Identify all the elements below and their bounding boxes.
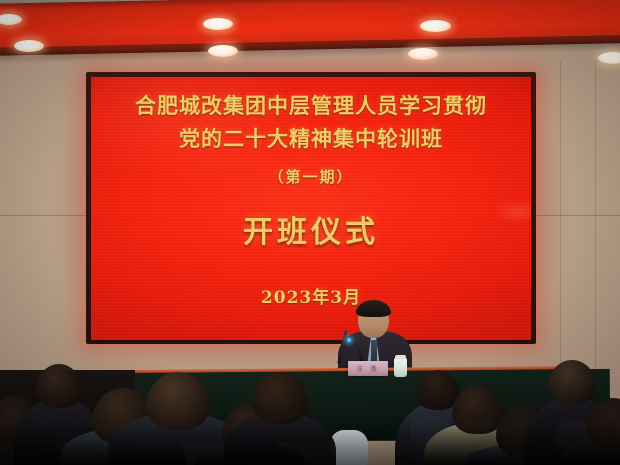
nameplate-text: 汪 浩 [357, 364, 380, 373]
presider-hair [356, 300, 391, 317]
presider-tie [371, 340, 377, 362]
audience-member-head [548, 360, 596, 404]
slide-title: 开班仪式 [243, 207, 379, 251]
slide-line-3: （第一期） [268, 166, 353, 187]
led-screen: 合肥城改集团中层管理人员学习贯彻 党的二十大精神集中轮训班 （第一期） 开班仪式… [91, 77, 531, 340]
downlight-5 [420, 20, 451, 32]
slide-line-2: 党的二十大精神集中轮训班 [179, 128, 443, 150]
slide-content: 合肥城改集团中层管理人员学习贯彻 党的二十大精神集中轮训班 （第一期） 开班仪式… [91, 77, 531, 340]
slide-line-1: 合肥城改集团中层管理人员学习贯彻 [135, 95, 487, 117]
conference-hall-photo: 合肥城改集团中层管理人员学习贯彻 党的二十大精神集中轮训班 （第一期） 开班仪式… [0, 0, 620, 465]
led-screen-frame: 合肥城改集团中层管理人员学习贯彻 党的二十大精神集中轮训班 （第一期） 开班仪式… [86, 72, 536, 344]
teacup [394, 358, 407, 377]
downlight-3 [203, 18, 233, 30]
desk-nameplate: 汪 浩 [348, 361, 388, 376]
microphone-led-indicator [347, 338, 351, 342]
wall-vertical-seam-1 [560, 60, 561, 370]
audience-member-head [36, 364, 82, 408]
wall-vertical-seam-2 [595, 60, 596, 370]
